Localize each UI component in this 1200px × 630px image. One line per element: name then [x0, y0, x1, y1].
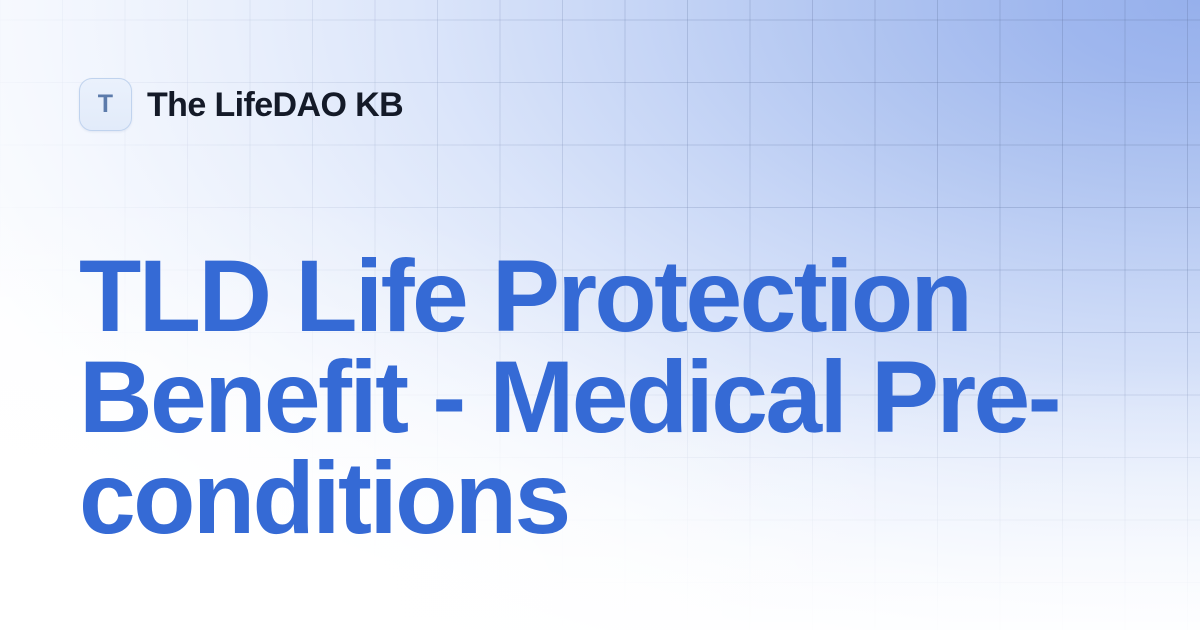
brand-badge-letter: T [98, 92, 113, 117]
brand-header: T The LifeDAO KB [79, 78, 403, 131]
letter-t-avatar-icon: T [79, 78, 132, 131]
brand-name: The LifeDAO KB [147, 88, 403, 122]
open-graph-card: T The LifeDAO KB TLD Life Protection Ben… [0, 0, 1200, 630]
page-title: TLD Life Protection Benefit - Medical Pr… [79, 246, 1089, 549]
